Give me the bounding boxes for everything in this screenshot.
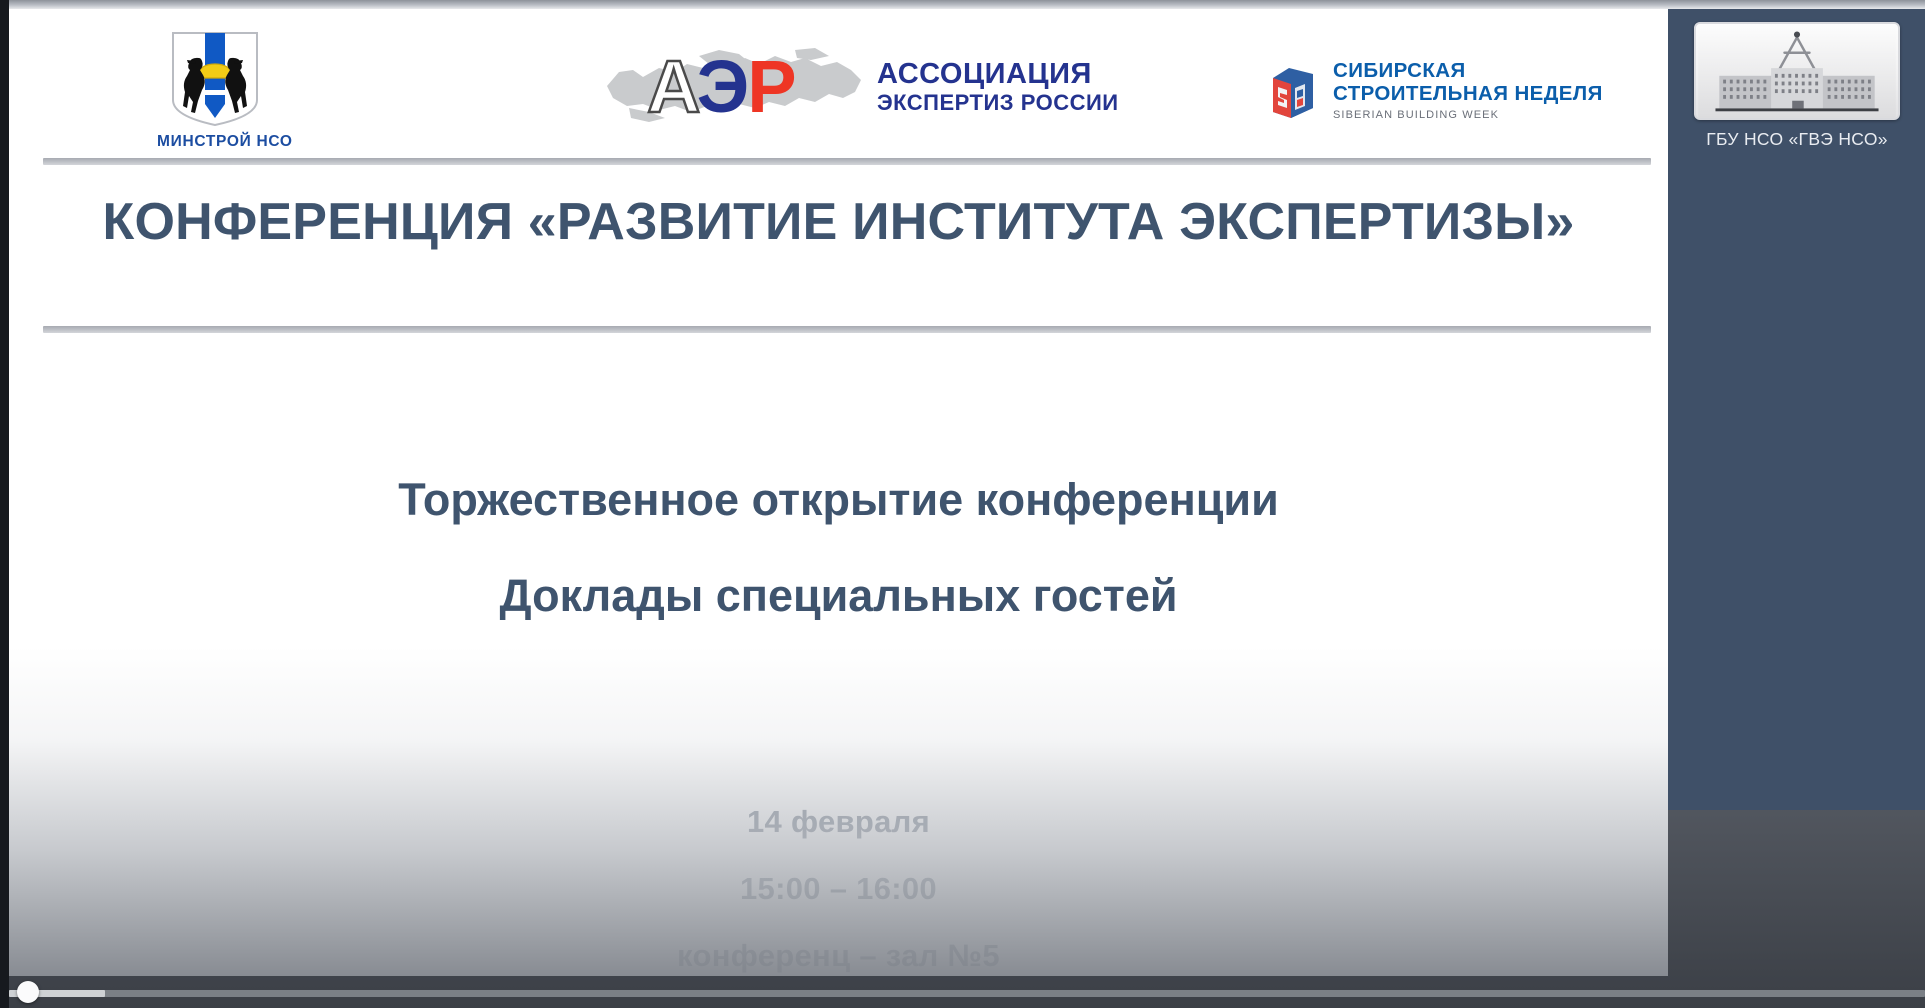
- aer-line-2: ЭКСПЕРТИЗ РОССИИ: [877, 91, 1119, 115]
- slide-details-block: 14 февраля 15:00 – 16:00 конференц – зал…: [9, 804, 1668, 976]
- aer-letters: АЭР: [647, 48, 795, 126]
- video-player-window: МИНСТРОЙ НСО АЭР АССОЦИАЦИЯ ЭКСПЕРТИЗ РО…: [0, 0, 1925, 1008]
- slide-detail-date: 14 февраля: [9, 804, 1668, 840]
- participants-sidebar: ГБУ НСО «ГВЭ НСО»: [1668, 4, 1925, 810]
- divider-bottom: [43, 326, 1651, 333]
- aer-mark: АЭР: [599, 44, 869, 130]
- slide-headline: КОНФЕРЕНЦИЯ «РАЗВИТИЕ ИНСТИТУТА ЭКСПЕРТИ…: [9, 192, 1668, 252]
- sbw-line-3: SIBERIAN BUILDING WEEK: [1333, 109, 1603, 121]
- aer-wordmark: АССОЦИАЦИЯ ЭКСПЕРТИЗ РОССИИ: [877, 59, 1119, 114]
- slide-center-line-2: Доклады специальных гостей: [9, 570, 1668, 622]
- coat-of-arms-shield-icon: [169, 30, 261, 128]
- window-top-strip: [9, 0, 1925, 9]
- divider-top: [43, 158, 1651, 165]
- participant-label: ГБУ НСО «ГВЭ НСО»: [1694, 129, 1900, 150]
- participant-tile-gvz-nso[interactable]: ГБУ НСО «ГВЭ НСО»: [1694, 22, 1900, 150]
- playback-progress-bar[interactable]: [9, 988, 1925, 998]
- slide-logo-band: МИНСТРОЙ НСО АЭР АССОЦИАЦИЯ ЭКСПЕРТИЗ РО…: [9, 4, 1668, 156]
- slide-center-line-1: Торжественное открытие конференции: [9, 474, 1668, 526]
- minstroy-nso-logo: МИНСТРОЙ НСО: [157, 30, 273, 151]
- aer-line-1: АССОЦИАЦИЯ: [877, 59, 1119, 90]
- sbw-cube-icon: [1261, 62, 1323, 124]
- slide-center-block: Торжественное открытие конференции Докла…: [9, 474, 1668, 666]
- siberian-building-week-logo: СИБИРСКАЯ СТРОИТЕЛЬНАЯ НЕДЕЛЯ SIBERIAN B…: [1261, 60, 1603, 124]
- shared-presentation-slide: МИНСТРОЙ НСО АЭР АССОЦИАЦИЯ ЭКСПЕРТИЗ РО…: [9, 4, 1668, 976]
- aer-logo: АЭР АССОЦИАЦИЯ ЭКСПЕРТИЗ РОССИИ: [599, 44, 1119, 130]
- government-building-with-compass-icon: [1696, 24, 1898, 118]
- progress-handle[interactable]: [17, 981, 39, 1003]
- slide-detail-time: 15:00 – 16:00: [9, 871, 1668, 907]
- participant-thumbnail[interactable]: [1694, 22, 1900, 120]
- sbw-line-1: СИБИРСКАЯ: [1333, 60, 1603, 83]
- sbw-line-2: СТРОИТЕЛЬНАЯ НЕДЕЛЯ: [1333, 83, 1603, 106]
- progress-track[interactable]: [9, 990, 1925, 997]
- slide-detail-room: конференц – зал №5: [9, 938, 1668, 974]
- sbw-wordmark: СИБИРСКАЯ СТРОИТЕЛЬНАЯ НЕДЕЛЯ SIBERIAN B…: [1333, 60, 1603, 121]
- minstroy-nso-label: МИНСТРОЙ НСО: [157, 133, 273, 151]
- window-left-gutter: [0, 0, 9, 1008]
